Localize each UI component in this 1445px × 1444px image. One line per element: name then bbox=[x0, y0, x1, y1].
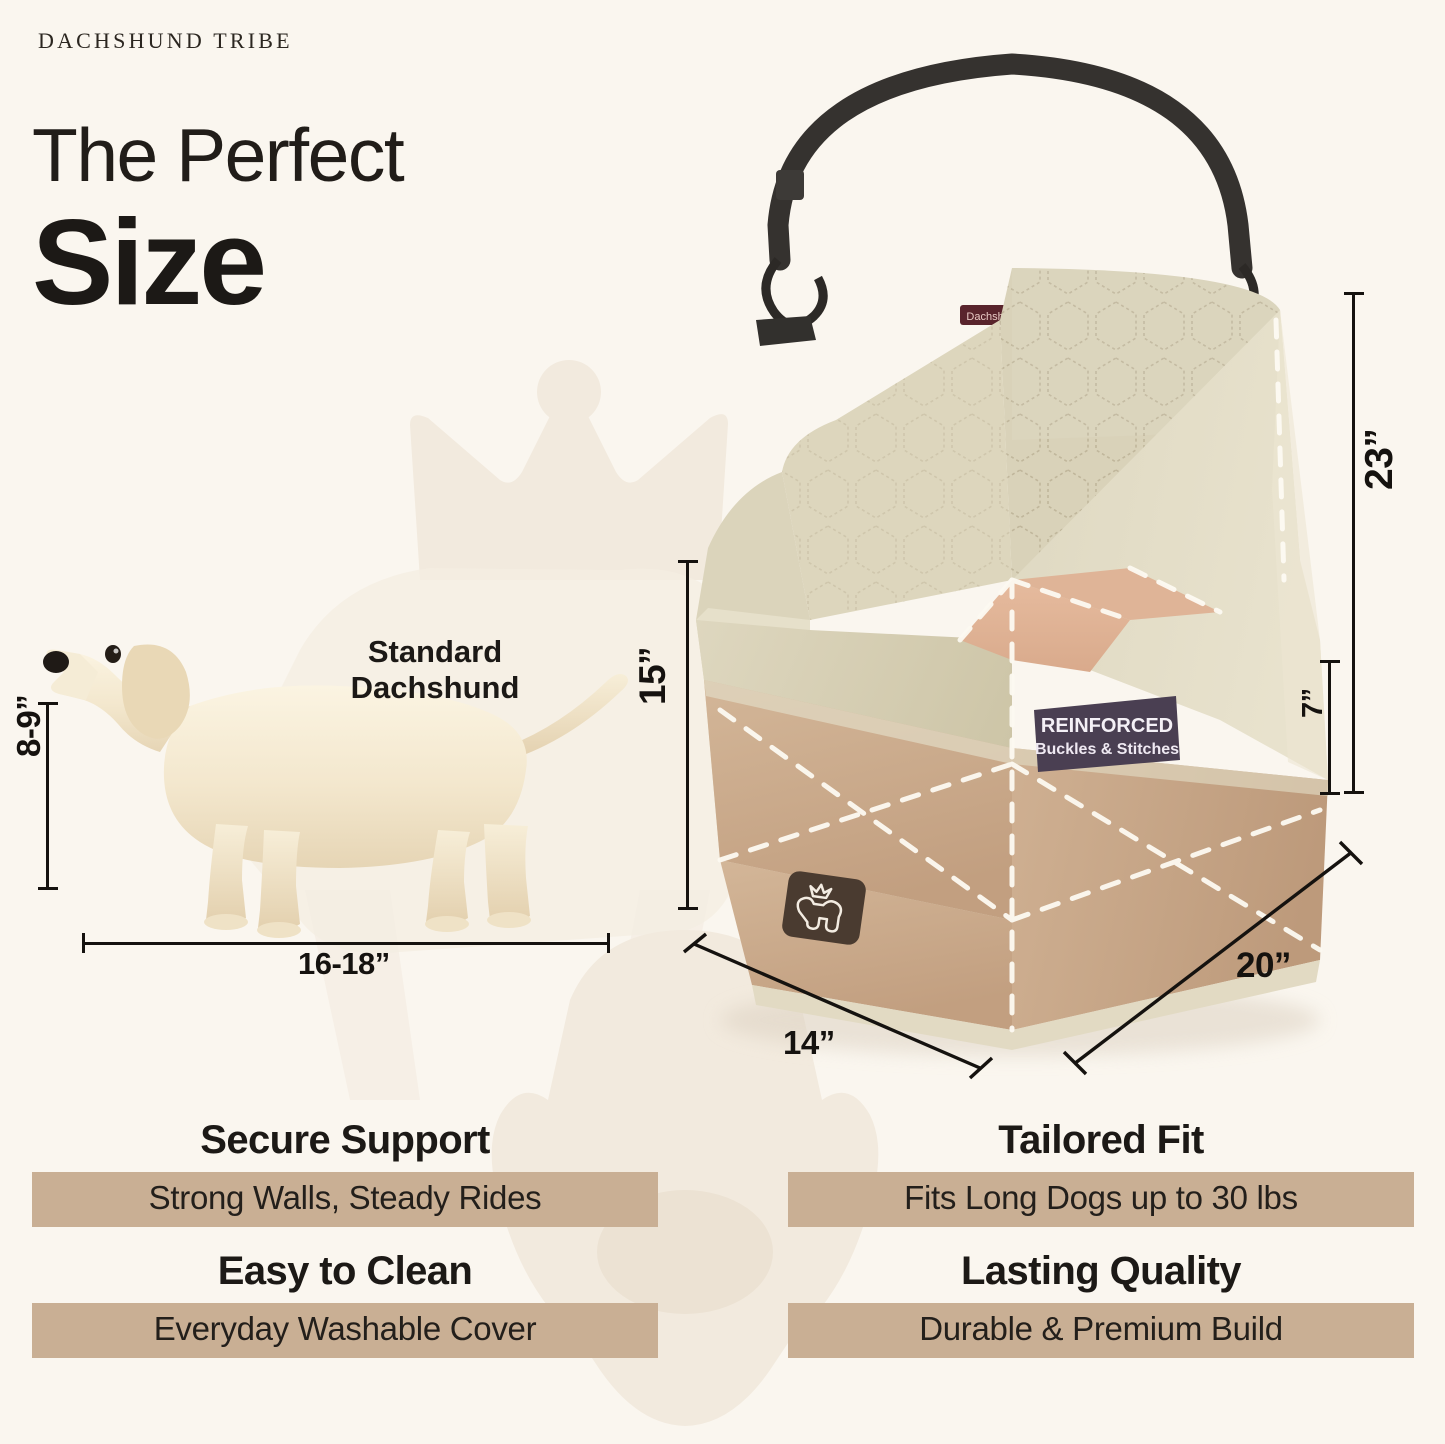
feature-bar: Strong Walls, Steady Rides bbox=[32, 1172, 658, 1227]
seat-front-height-cap-top bbox=[678, 560, 698, 563]
headline-line-1: The Perfect bbox=[32, 118, 403, 193]
dog-label: Standard Dachshund bbox=[300, 634, 570, 705]
feature-card-secure-support: Secure Support Strong Walls, Steady Ride… bbox=[32, 1118, 658, 1227]
brand-wordmark: DACHSHUND TRIBE bbox=[38, 28, 293, 54]
dog-height-label: 8-9” bbox=[10, 695, 48, 757]
reinforced-tag-line-2: Buckles & Stitches bbox=[1035, 741, 1179, 758]
feature-grid: Secure Support Strong Walls, Steady Ride… bbox=[32, 1118, 1414, 1358]
feature-bar: Everyday Washable Cover bbox=[32, 1303, 658, 1358]
feature-card-lasting-quality: Lasting Quality Durable & Premium Build bbox=[788, 1249, 1414, 1358]
feature-bar: Durable & Premium Build bbox=[788, 1303, 1414, 1358]
dog-length-cap-left bbox=[82, 933, 85, 953]
feature-bar: Fits Long Dogs up to 30 lbs bbox=[788, 1172, 1414, 1227]
seat-total-height-cap-bottom bbox=[1344, 791, 1364, 794]
seat-depth-rule bbox=[680, 930, 1010, 1090]
seat-width-label: 20” bbox=[1236, 946, 1291, 986]
reinforced-tag-line-1: REINFORCED bbox=[1041, 715, 1173, 737]
seat-base-height-cap-top bbox=[1320, 660, 1340, 663]
seat-base-height-rule bbox=[1328, 660, 1331, 795]
seat-base-height-cap-bottom bbox=[1320, 792, 1340, 795]
feature-title: Tailored Fit bbox=[998, 1118, 1203, 1163]
reinforced-tag: REINFORCED Buckles & Stitches bbox=[1034, 696, 1180, 772]
infographic-canvas: DACHSHUND TRIBE The Perfect Size bbox=[0, 0, 1445, 1444]
feature-title: Lasting Quality bbox=[961, 1249, 1241, 1294]
seat-total-height-cap-top bbox=[1344, 292, 1364, 295]
page-title: The Perfect Size bbox=[32, 118, 403, 329]
seat-depth-label: 14” bbox=[783, 1024, 835, 1062]
feature-card-easy-to-clean: Easy to Clean Everyday Washable Cover bbox=[32, 1249, 658, 1358]
dog-label-line-1: Standard bbox=[368, 634, 502, 669]
feature-title: Secure Support bbox=[200, 1118, 489, 1163]
seat-total-height-label: 23” bbox=[1358, 429, 1402, 490]
seat-front-height-cap-bottom bbox=[678, 907, 698, 910]
seat-base-height-label: 7” bbox=[1297, 688, 1330, 718]
dog-length-cap-right bbox=[607, 933, 610, 953]
seat-width-rule bbox=[1060, 840, 1380, 1080]
seat-total-height-rule bbox=[1352, 292, 1355, 794]
dog-height-cap-bottom bbox=[38, 887, 58, 890]
seat-front-height-label: 15” bbox=[632, 647, 674, 705]
dog-length-label: 16-18” bbox=[298, 946, 390, 982]
seat-front-height-rule bbox=[686, 560, 689, 910]
dog-length-rule bbox=[82, 942, 610, 945]
feature-title: Easy to Clean bbox=[218, 1249, 473, 1294]
headline-line-2: Size bbox=[32, 197, 403, 329]
dog-label-line-2: Dachshund bbox=[351, 670, 520, 705]
feature-card-tailored-fit: Tailored Fit Fits Long Dogs up to 30 lbs bbox=[788, 1118, 1414, 1227]
inner-back-wall-left bbox=[782, 320, 1012, 620]
